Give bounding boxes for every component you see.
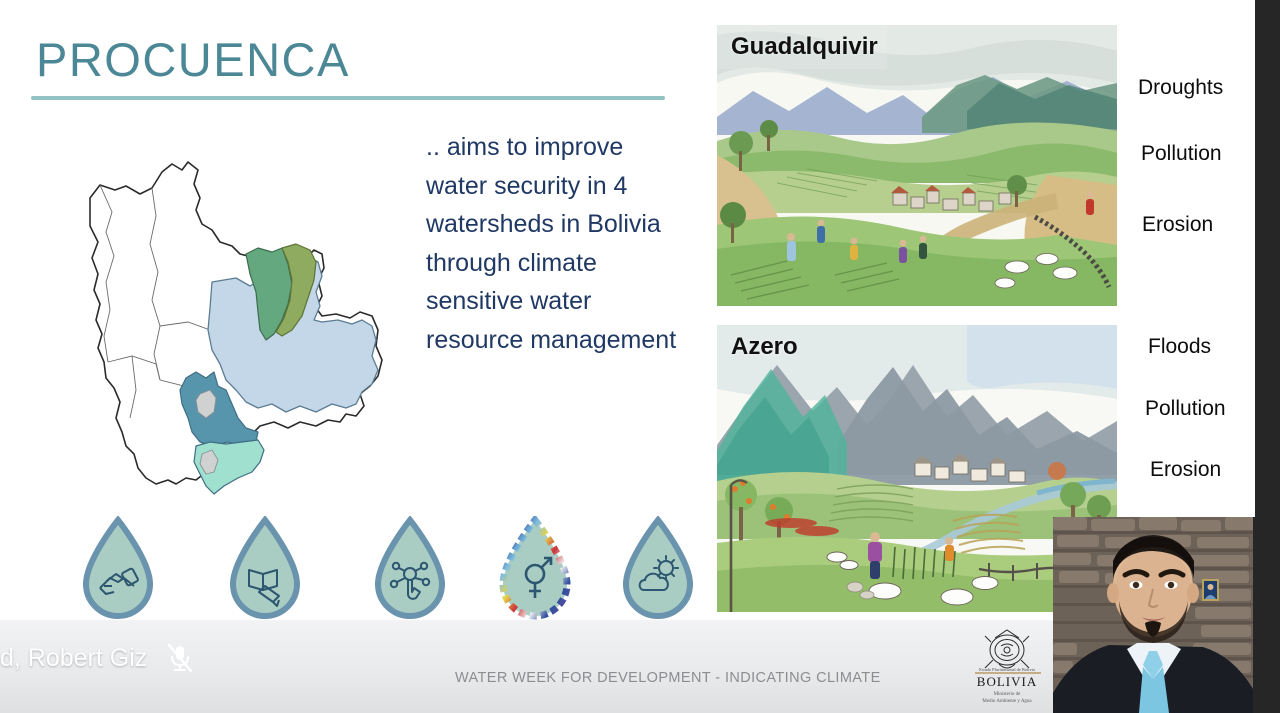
footer-event-text: WATER WEEK FOR DEVELOPMENT - INDICATING … — [455, 670, 881, 686]
issue-label-pollution-1: Pollution — [1141, 142, 1222, 166]
issue-label-floods: Floods — [1148, 335, 1211, 359]
pillar-row: Governance Capacity Information System G… — [40, 516, 680, 636]
watershed-name-guadalquivir: Guadalquivir — [731, 33, 878, 61]
wall-picture — [1202, 579, 1219, 601]
pillar-icon-information-system — [370, 516, 450, 624]
pillar-icon-governance — [78, 516, 158, 624]
bolivia-government-logo: Estado Plurinacional de Bolivia BOLIVIA … — [955, 626, 1060, 706]
pillar-icon-gender — [495, 516, 575, 624]
microphone-muted-icon[interactable] — [165, 641, 195, 675]
svg-text:Ministerio de: Ministerio de — [994, 692, 1022, 697]
participant-name-label: d, Robert Giz — [0, 644, 147, 673]
svg-text:BOLIVIA: BOLIVIA — [977, 674, 1037, 689]
watershed-name-azero: Azero — [731, 333, 798, 361]
issue-label-erosion-2: Erosion — [1150, 458, 1221, 482]
intro-paragraph: .. aims to improve water security in 4 w… — [426, 128, 678, 359]
bolivia-map — [60, 150, 410, 510]
pillar-icon-capacity — [225, 516, 305, 624]
video-tile-letterbox — [1253, 517, 1280, 713]
issue-label-droughts: Droughts — [1138, 76, 1223, 100]
pillar-icon-ndc — [618, 516, 698, 624]
issue-label-pollution-2: Pollution — [1145, 397, 1226, 421]
participant-name-overlay: d, Robert Giz — [0, 640, 195, 676]
map-region-tarija — [194, 440, 264, 494]
watershed-photo-guadalquivir: Guadalquivir — [717, 25, 1117, 306]
issue-label-erosion-1: Erosion — [1142, 213, 1213, 237]
coat-of-arms-icon — [985, 630, 1029, 668]
page-title: PROCUENCA — [36, 36, 350, 83]
meeting-screen-share-stage: PROCUENCA .. aims to improve water secur… — [0, 0, 1280, 713]
participant-video-tile[interactable] — [1053, 517, 1253, 713]
svg-text:Medio Ambiente y Agua: Medio Ambiente y Agua — [982, 699, 1032, 704]
title-underline-rule — [31, 96, 665, 100]
svg-text:Estado Plurinacional de Bolivi: Estado Plurinacional de Bolivia — [979, 667, 1035, 672]
